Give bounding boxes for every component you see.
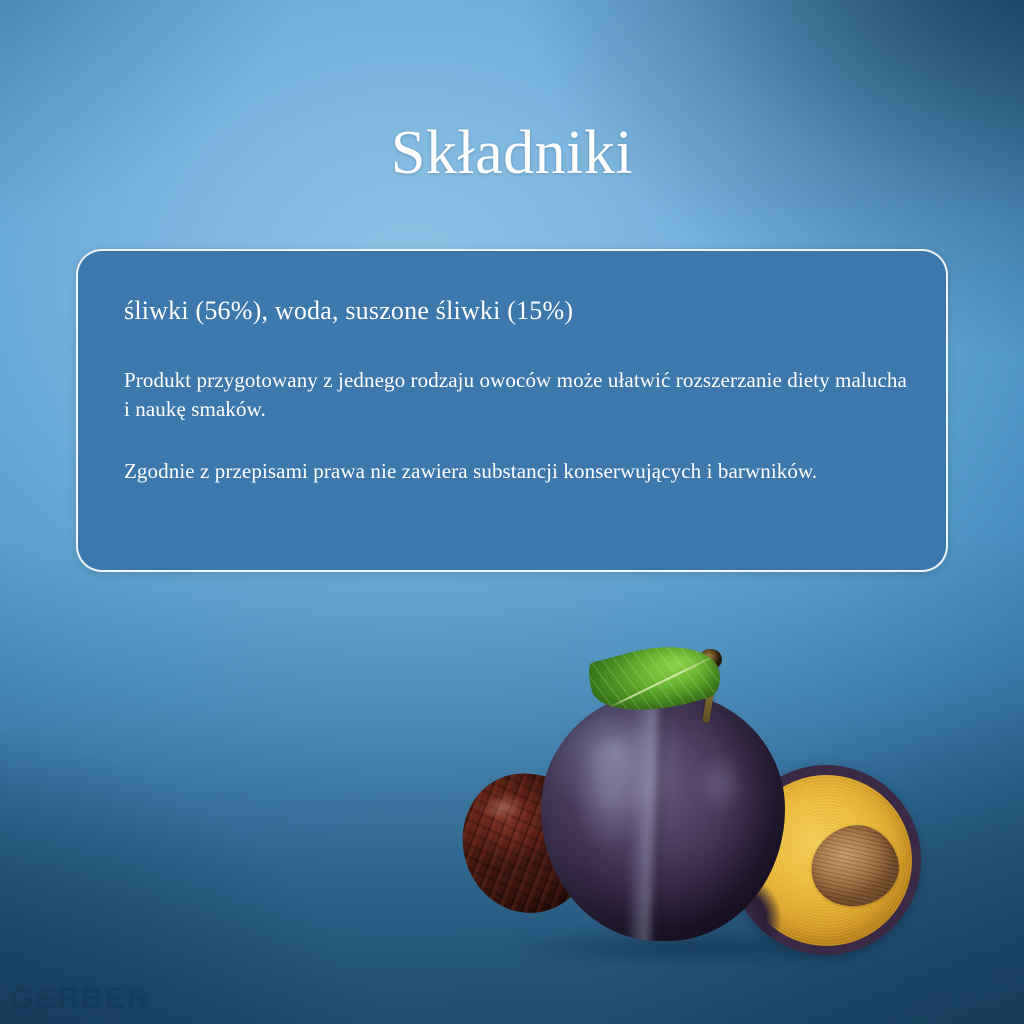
page-title: Składniki [0,122,1024,184]
plum-product-photo [455,625,925,975]
plum-specular-highlight [687,746,750,831]
whole-plum-icon [541,691,785,941]
ingredients-note-single-fruit: Produkt przygotowany z jednego rodzaju o… [124,366,916,426]
plum-groove [624,691,672,941]
ingredients-list: śliwki (56%), woda, suszone śliwki (15%) [124,295,916,328]
ingredients-panel: GERBER Składniki śliwki (56%), woda, sus… [0,0,1024,1024]
background-watermark: GERBER [10,982,150,1016]
ingredients-card: śliwki (56%), woda, suszone śliwki (15%)… [76,249,948,572]
ingredients-card-content: śliwki (56%), woda, suszone śliwki (15%)… [124,295,916,487]
ingredients-note-no-preservatives: Zgodnie z przepisami prawa nie zawiera s… [124,457,916,487]
